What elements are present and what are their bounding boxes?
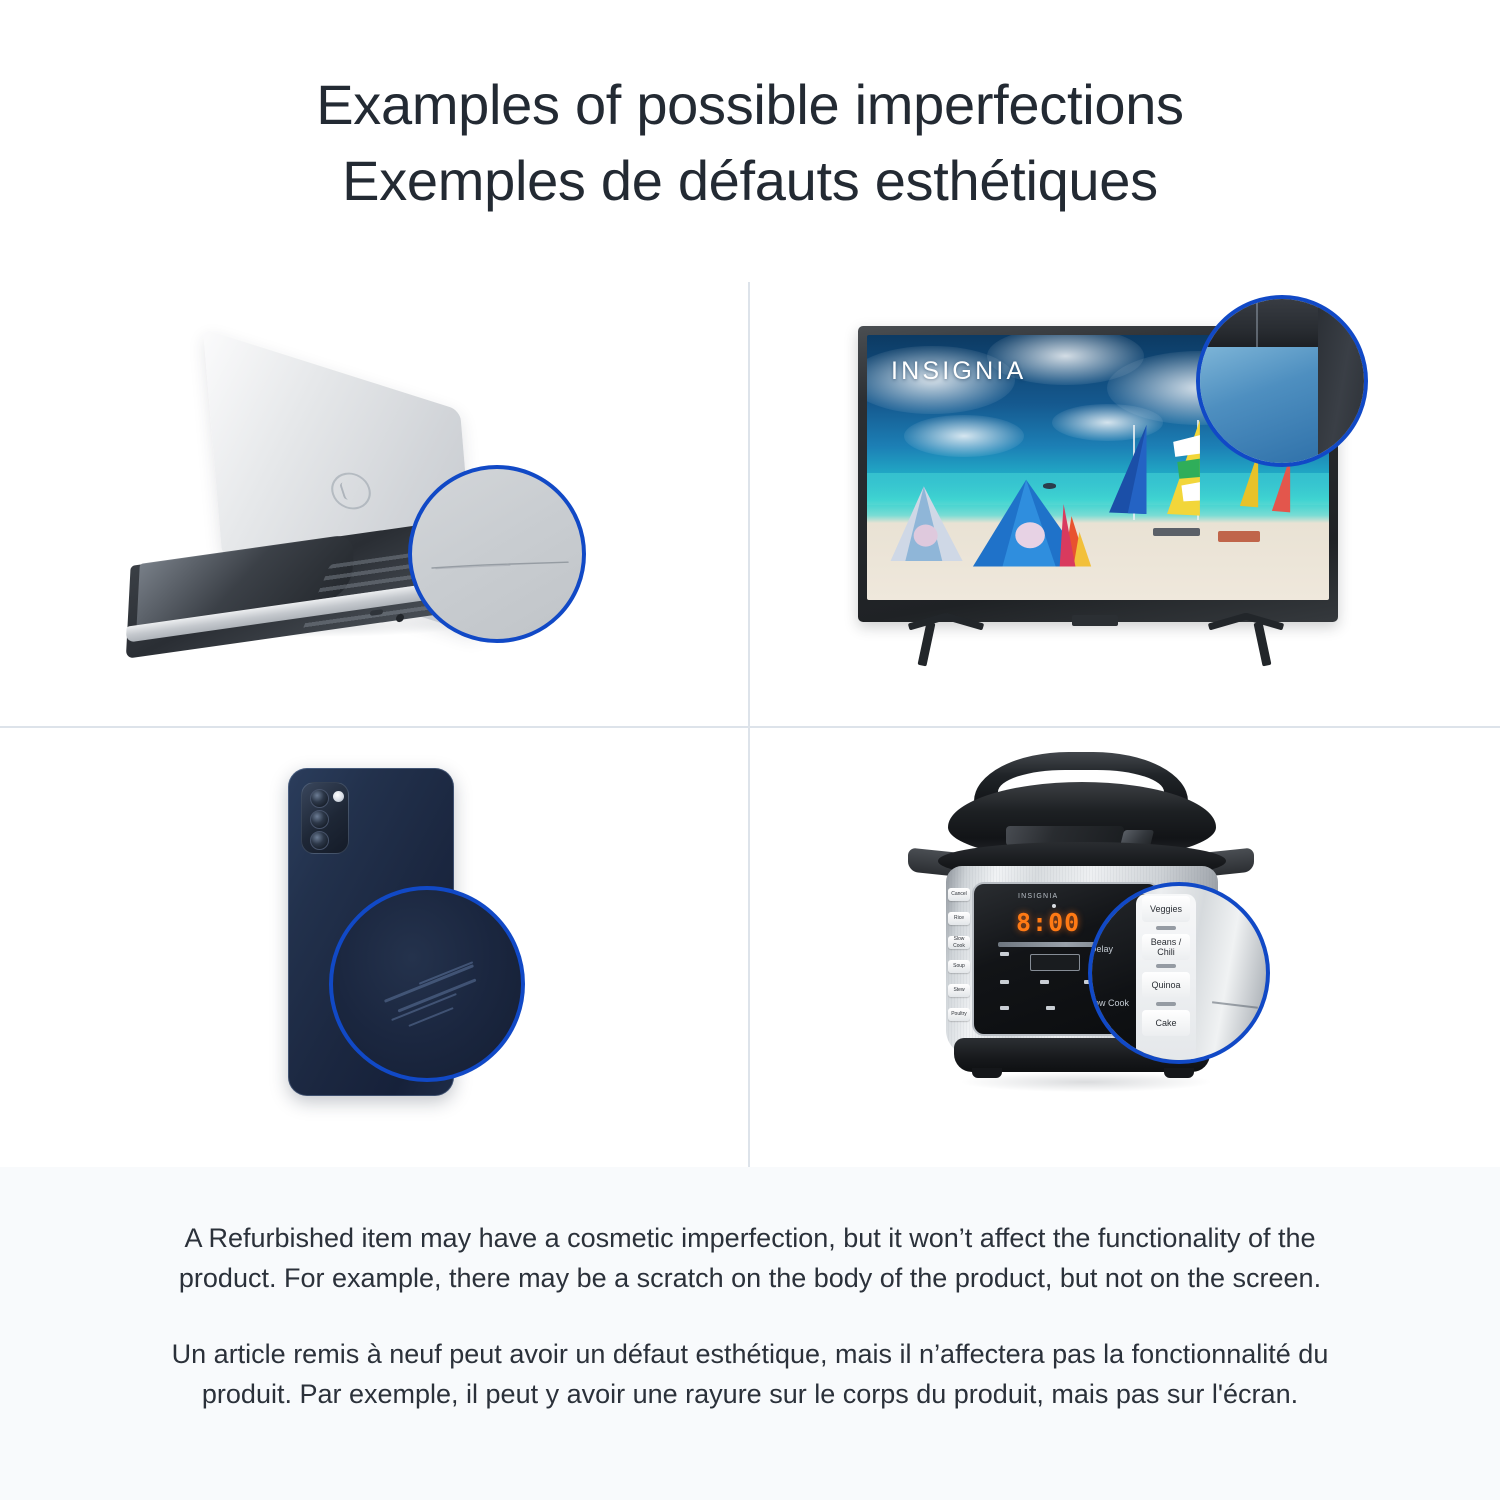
cooker-foot bbox=[972, 1068, 1002, 1078]
camera-lens-icon bbox=[310, 810, 329, 829]
magnified-bezel-corner bbox=[1318, 295, 1368, 467]
cloud bbox=[904, 415, 1024, 457]
magnified-screen-area bbox=[1198, 345, 1318, 467]
cooker-left-key-column: Cancel Rice Slow Cook Soup Stew Poultry bbox=[950, 882, 990, 1036]
laptop-illustration bbox=[120, 367, 520, 657]
magnified-key[interactable]: Beans / Chili bbox=[1142, 934, 1190, 960]
cooker-brand-label: INSIGNIA bbox=[1018, 893, 1058, 900]
phone-scratch-icon bbox=[391, 993, 457, 1021]
magnified-key[interactable]: Veggies bbox=[1142, 896, 1190, 922]
page-title-french: Exemples de défauts esthétiques bbox=[342, 143, 1158, 219]
smartphone-illustration bbox=[288, 768, 538, 1118]
beach-object bbox=[1153, 528, 1199, 536]
magnifier-tv-bezel-scuff bbox=[1196, 295, 1368, 467]
distant-boat bbox=[1043, 483, 1057, 488]
cooker-scratch-icon bbox=[1212, 1001, 1258, 1008]
cooker-button[interactable] bbox=[1000, 980, 1009, 984]
tv-panel: INSIGNIA bbox=[750, 282, 1500, 726]
cooker-key[interactable]: Poultry bbox=[948, 1008, 970, 1021]
striped-sail bbox=[1165, 420, 1202, 521]
phone-panel bbox=[0, 728, 748, 1167]
magnified-key-column: Veggies Beans / Chili Quinoa Cake bbox=[1136, 894, 1196, 1064]
television-illustration: INSIGNIA bbox=[858, 326, 1358, 686]
pressure-cooker-panel: INSIGNIA 8:00 bbox=[750, 728, 1500, 1167]
camera-lens-icon bbox=[310, 831, 329, 850]
magnified-key[interactable]: Quinoa bbox=[1142, 972, 1190, 998]
cooker-mode-indicator bbox=[1030, 954, 1080, 971]
phone-scratch-icon bbox=[397, 978, 476, 1012]
magnifier-phone-scratch bbox=[329, 886, 525, 1082]
examples-grid: INSIGNIA bbox=[0, 282, 1500, 1167]
refurbished-imperfections-infographic: Examples of possible imperfections Exemp… bbox=[0, 0, 1500, 1500]
cooker-key[interactable]: Cancel bbox=[948, 888, 970, 901]
footer-description: A Refurbished item may have a cosmetic i… bbox=[0, 1167, 1500, 1500]
cooker-button[interactable] bbox=[1000, 952, 1009, 956]
footer-text-english: A Refurbished item may have a cosmetic i… bbox=[170, 1219, 1330, 1299]
page-title-english: Examples of possible imperfections bbox=[316, 67, 1184, 143]
cooker-key[interactable]: Stew bbox=[948, 984, 970, 997]
tv-scuff-mark-icon bbox=[1256, 295, 1258, 347]
magnified-side-label: Slow Cook bbox=[1088, 998, 1129, 1008]
tv-screen-logo: INSIGNIA bbox=[891, 357, 1026, 386]
page-header: Examples of possible imperfections Exemp… bbox=[0, 0, 1500, 268]
beach-kite bbox=[969, 478, 1117, 573]
camera-lens-icon bbox=[310, 789, 329, 808]
tv-brand-plate bbox=[1072, 615, 1118, 626]
magnifier-cooker-scratch: Veggies Beans / Chili Quinoa Cake Delay … bbox=[1088, 882, 1270, 1064]
phone-camera-module bbox=[301, 782, 349, 854]
magnified-side-label: Delay bbox=[1090, 944, 1113, 954]
laptop-scratch-icon bbox=[430, 561, 570, 570]
tv-stand-left bbox=[904, 618, 988, 668]
laptop-panel bbox=[0, 282, 748, 726]
cooker-key[interactable]: Soup bbox=[948, 960, 970, 973]
pressure-cooker-illustration: INSIGNIA 8:00 bbox=[932, 746, 1292, 1116]
cooker-button[interactable] bbox=[1046, 1006, 1055, 1010]
cooker-button[interactable] bbox=[1040, 980, 1049, 984]
cooker-key[interactable]: Rice bbox=[948, 912, 970, 925]
magnified-key[interactable]: Cake bbox=[1142, 1010, 1190, 1036]
cooker-foot bbox=[1164, 1068, 1194, 1078]
camera-flash-icon bbox=[333, 791, 344, 802]
footer-text-french: Un article remis à neuf peut avoir un dé… bbox=[170, 1335, 1330, 1415]
cooker-key[interactable]: Slow Cook bbox=[948, 936, 970, 949]
cooker-time-display: 8:00 bbox=[1016, 910, 1094, 936]
magnifier-laptop-scratch bbox=[408, 465, 586, 643]
cooker-button[interactable] bbox=[1000, 1006, 1009, 1010]
tv-stand-right bbox=[1204, 618, 1288, 668]
beach-object bbox=[1218, 531, 1260, 542]
